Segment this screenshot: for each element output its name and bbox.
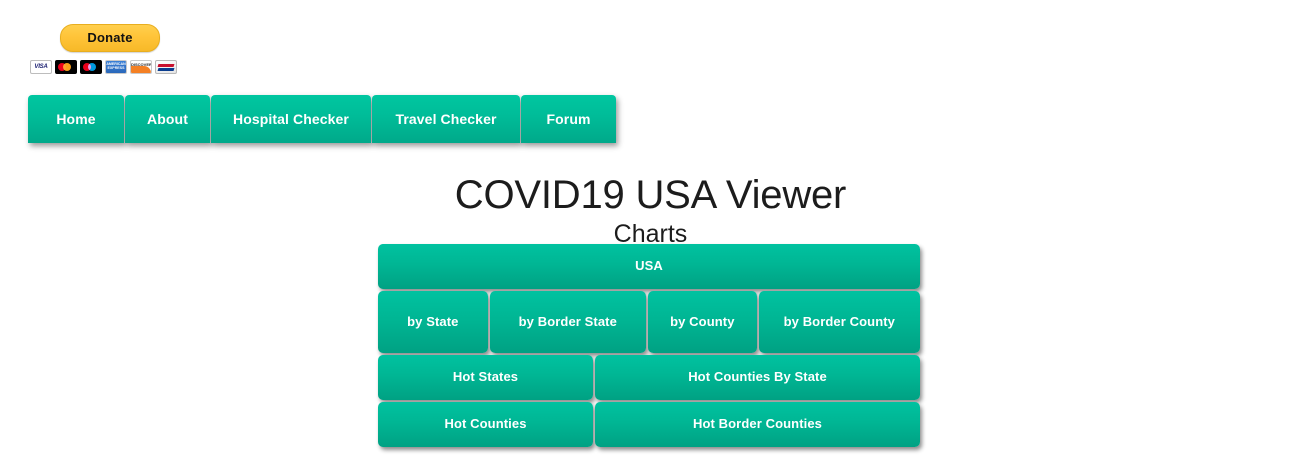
amex-card-icon: AMERICAN EXPRESS: [105, 60, 127, 74]
amex-card-label: AMERICAN EXPRESS: [106, 61, 126, 73]
chart-button-hot-border-counties[interactable]: Hot Border Counties: [595, 402, 920, 447]
diners-red-stripe: [158, 64, 175, 67]
chart-button-by-border-county[interactable]: by Border County: [759, 291, 920, 353]
chart-menu-row-usa: USA: [378, 244, 920, 289]
visa-card-label: VISA: [31, 61, 51, 73]
diners-blue-stripe: [158, 68, 175, 71]
discover-card-icon: DISCOVER: [130, 60, 152, 74]
chart-button-hot-counties[interactable]: Hot Counties: [378, 402, 593, 447]
mastercard-card-icon: [55, 60, 77, 74]
chart-menu-row-by: by State by Border State by County by Bo…: [378, 291, 920, 353]
chart-button-usa[interactable]: USA: [378, 244, 920, 289]
nav-item-about[interactable]: About: [125, 95, 210, 143]
maestro-blue-circle: [88, 63, 96, 71]
visa-card-icon: VISA: [30, 60, 52, 74]
chart-menu-row-hot-states: Hot States Hot Counties By State: [378, 355, 920, 400]
page-title: COVID19 USA Viewer: [0, 173, 1301, 218]
maestro-card-icon: [80, 60, 102, 74]
chart-button-by-county[interactable]: by County: [648, 291, 757, 353]
chart-button-hot-states[interactable]: Hot States: [378, 355, 593, 400]
accepted-cards-row: VISA AMERICAN EXPRESS DISCOVER: [30, 60, 228, 74]
diners-card-icon: [155, 60, 177, 74]
main-navigation: Home About Hospital Checker Travel Check…: [28, 95, 616, 143]
chart-menu-row-hot-counties: Hot Counties Hot Border Counties: [378, 402, 920, 447]
donate-area: Donate VISA AMERICAN EXPRESS DISCOVER: [28, 24, 228, 74]
discover-orange-band: [131, 66, 151, 73]
nav-item-travel-checker[interactable]: Travel Checker: [372, 95, 520, 143]
nav-item-forum[interactable]: Forum: [521, 95, 616, 143]
nav-item-hospital-checker[interactable]: Hospital Checker: [211, 95, 371, 143]
chart-button-by-state[interactable]: by State: [378, 291, 488, 353]
mastercard-yellow-circle: [63, 63, 71, 71]
chart-menu-grid: USA by State by Border State by County b…: [378, 244, 920, 449]
chart-button-by-border-state[interactable]: by Border State: [490, 291, 646, 353]
nav-item-home[interactable]: Home: [28, 95, 124, 143]
donate-button[interactable]: Donate: [60, 24, 160, 52]
chart-button-hot-counties-by-state[interactable]: Hot Counties By State: [595, 355, 920, 400]
